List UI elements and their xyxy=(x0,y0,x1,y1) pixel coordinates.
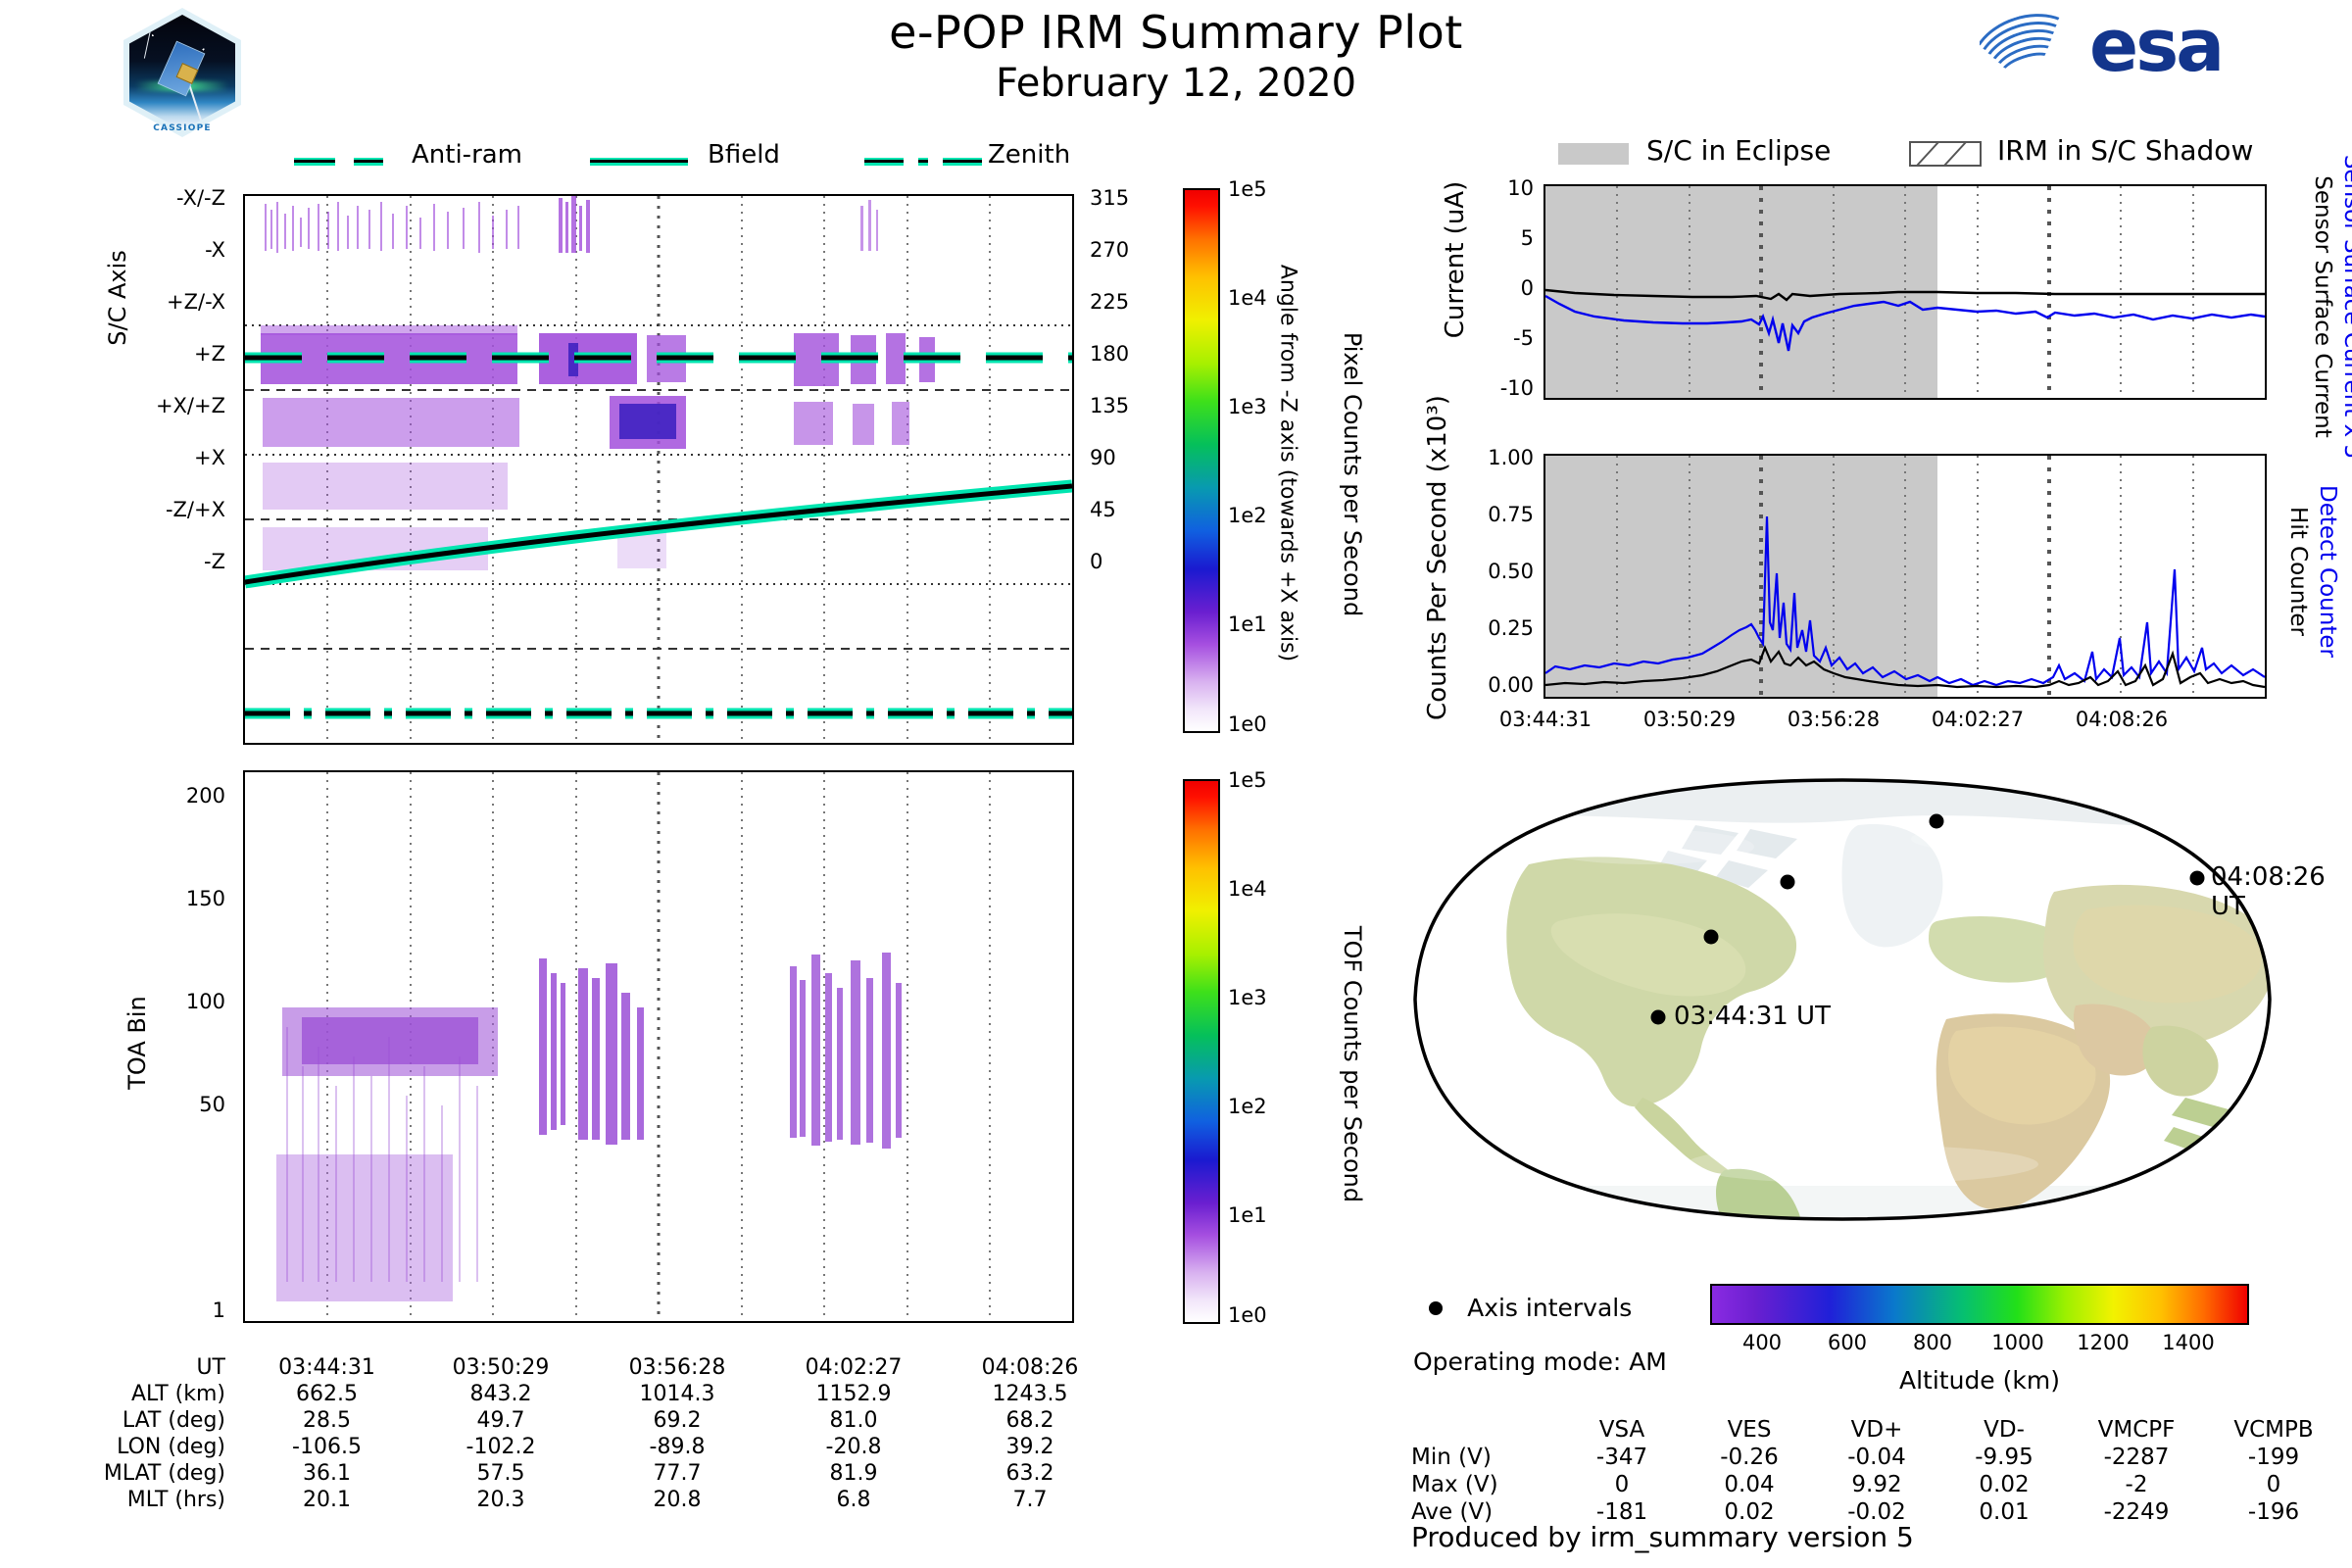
cbar-tick: 1e0 xyxy=(1228,1303,1267,1327)
ytick-right: 270 xyxy=(1090,238,1129,262)
altitude-colorbar-label: Altitude (km) xyxy=(1710,1366,2249,1395)
col-header: VD- xyxy=(1940,1416,2068,1444)
cbar-tick: 1e4 xyxy=(1228,286,1267,310)
cbar-tick: 600 xyxy=(1808,1331,1886,1354)
operating-mode: Operating mode: AM xyxy=(1413,1347,1667,1376)
col-header: VSA xyxy=(1558,1416,1686,1444)
cbar-tick: 1e0 xyxy=(1228,712,1267,736)
table-row: MLAT (deg) 36.1 57.5 77.7 81.9 63.2 xyxy=(59,1460,1118,1487)
ytick: 10 xyxy=(1507,176,1534,200)
ytick-right: 225 xyxy=(1090,290,1129,314)
pixel-counts-colorbar-label: Pixel Counts per Second xyxy=(1339,278,1366,670)
ytick-right: 135 xyxy=(1090,394,1129,417)
cell: -0.26 xyxy=(1686,1444,1813,1471)
cell: 57.5 xyxy=(413,1460,589,1487)
cell: 1014.3 xyxy=(589,1381,765,1407)
ytick: -Z xyxy=(204,550,225,573)
cell: 0.04 xyxy=(1686,1471,1813,1498)
cell: -196 xyxy=(2205,1498,2342,1526)
ytick: +X xyxy=(194,446,225,469)
ytick: 100 xyxy=(186,990,225,1013)
badge-caption: CASSIOPE xyxy=(123,123,241,133)
cell: 04:08:26 xyxy=(942,1354,1118,1381)
row-label: Min (V) xyxy=(1411,1444,1558,1471)
legend-swatch-eclipse xyxy=(1558,143,1629,165)
page-title: e-POP IRM Summary Plot xyxy=(686,6,1666,59)
cbar-tick: 1e2 xyxy=(1228,504,1267,527)
ytick-right: 315 xyxy=(1090,186,1129,210)
cell: 0.01 xyxy=(1940,1498,2068,1526)
cell: -2287 xyxy=(2068,1444,2205,1471)
time-tick: 03:56:28 xyxy=(1755,708,1912,731)
cell: 0 xyxy=(1558,1471,1686,1498)
cell: -20.8 xyxy=(765,1434,942,1460)
cell: 1243.5 xyxy=(942,1381,1118,1407)
cell: -199 xyxy=(2205,1444,2342,1471)
ytick: 1.00 xyxy=(1488,446,1534,469)
ytick: -5 xyxy=(1513,326,1534,350)
ytick-right: 180 xyxy=(1090,342,1129,366)
cell: -347 xyxy=(1558,1444,1686,1471)
legend-label-eclipse: S/C in Eclipse xyxy=(1646,134,1831,167)
sc-axis-spectrogram xyxy=(245,196,1072,743)
cell: 6.8 xyxy=(765,1487,942,1513)
ytick-right: 90 xyxy=(1090,446,1116,469)
tof-counts-colorbar-label: TOF Counts per Second xyxy=(1339,868,1366,1260)
cell: 36.1 xyxy=(241,1460,413,1487)
col-header: VD+ xyxy=(1813,1416,1940,1444)
cell: 81.9 xyxy=(765,1460,942,1487)
map-marker-legend: Axis intervals xyxy=(1423,1294,1632,1322)
cell: 39.2 xyxy=(942,1434,1118,1460)
table-row: LON (deg) -106.5 -102.2 -89.8 -20.8 39.2 xyxy=(59,1434,1118,1460)
ytick: -10 xyxy=(1500,376,1534,400)
time-tick: 03:44:31 xyxy=(1467,708,1624,731)
cbar-tick: 1000 xyxy=(1979,1331,2057,1354)
cell: 9.92 xyxy=(1813,1471,1940,1498)
counts-ylabel: Counts Per Second (x10³) xyxy=(1424,426,1453,720)
sc-axis-ylabel: S/C Axis xyxy=(104,200,131,396)
row-label: MLAT (deg) xyxy=(59,1460,241,1487)
tof-counts-colorbar xyxy=(1183,779,1220,1324)
cell: -2249 xyxy=(2068,1498,2205,1526)
cbar-tick: 1200 xyxy=(2064,1331,2142,1354)
cbar-tick: 800 xyxy=(1893,1331,1972,1354)
legend-label-zenith: Zenith xyxy=(988,140,1070,170)
orbit-marker xyxy=(1781,875,1795,890)
row-label: LON (deg) xyxy=(59,1434,241,1460)
ytick: -X/-Z xyxy=(176,186,225,210)
orbit-marker xyxy=(1651,1010,1666,1025)
ytick: 0.00 xyxy=(1488,673,1534,697)
cell: 81.0 xyxy=(765,1407,942,1434)
ytick: 0.25 xyxy=(1488,616,1534,640)
cell: 0.02 xyxy=(1940,1471,2068,1498)
cbar-tick: 1e1 xyxy=(1228,1203,1267,1227)
cbar-tick: 1e3 xyxy=(1228,986,1267,1009)
cell: 68.2 xyxy=(942,1407,1118,1434)
cell: 03:44:31 xyxy=(241,1354,413,1381)
cell: -2 xyxy=(2068,1471,2205,1498)
ytick: -Z/+X xyxy=(166,498,225,521)
current-plot xyxy=(1543,184,2267,400)
ytick: 0 xyxy=(1521,276,1534,300)
legend-label-shadow: IRM in S/C Shadow xyxy=(1997,134,2253,167)
axis-interval-dot-icon xyxy=(1423,1296,1448,1321)
legend-swatch-bfield xyxy=(590,151,688,170)
table-row: Min (V) -347 -0.26 -0.04 -9.95 -2287 -19… xyxy=(1411,1444,2342,1471)
cell: 662.5 xyxy=(241,1381,413,1407)
cell: 843.2 xyxy=(413,1381,589,1407)
row-label: Max (V) xyxy=(1411,1471,1558,1498)
cell: 20.8 xyxy=(589,1487,765,1513)
map-start-label: 03:44:31 UT xyxy=(1674,1002,1831,1031)
cell: 28.5 xyxy=(241,1407,413,1434)
cell: -9.95 xyxy=(1940,1444,2068,1471)
orbit-marker xyxy=(2190,871,2205,886)
ytick: 200 xyxy=(186,784,225,808)
table-row: MLT (hrs) 20.1 20.3 20.8 6.8 7.7 xyxy=(59,1487,1118,1513)
table-row: ALT (km) 662.5 843.2 1014.3 1152.9 1243.… xyxy=(59,1381,1118,1407)
col-header: VCMPB xyxy=(2205,1416,2342,1444)
counts-right-label-blue: Detect Counter xyxy=(2315,424,2340,718)
legend-label-bfield: Bfield xyxy=(708,140,780,170)
row-label: LAT (deg) xyxy=(59,1407,241,1434)
esa-wordmark: esa xyxy=(2089,4,2222,88)
table-row: LAT (deg) 28.5 49.7 69.2 81.0 68.2 xyxy=(59,1407,1118,1434)
ytick: +Z xyxy=(194,342,225,366)
cell: -106.5 xyxy=(241,1434,413,1460)
counts-series xyxy=(1545,456,2265,697)
footer-produced-by: Produced by irm_summary version 5 xyxy=(1411,1521,1914,1553)
table-header-row: VSA VES VD+ VD- VMCPF VCMPB xyxy=(1411,1416,2342,1444)
ytick-right: 45 xyxy=(1090,498,1116,521)
cell: -89.8 xyxy=(589,1434,765,1460)
cell: -102.2 xyxy=(413,1434,589,1460)
cell: 04:02:27 xyxy=(765,1354,942,1381)
orbit-marker xyxy=(1704,930,1719,945)
time-tick: 04:08:26 xyxy=(2043,708,2200,731)
legend-swatch-anti-ram xyxy=(294,151,383,170)
ytick: -X xyxy=(205,238,225,262)
counts-plot xyxy=(1543,454,2267,699)
table-row: Max (V) 0 0.04 9.92 0.02 -2 0 xyxy=(1411,1471,2342,1498)
cell: 03:56:28 xyxy=(589,1354,765,1381)
row-label: MLT (hrs) xyxy=(59,1487,241,1513)
cell: 03:50:29 xyxy=(413,1354,589,1381)
sc-axis-plot xyxy=(243,194,1074,745)
cbar-tick: 1e1 xyxy=(1228,612,1267,636)
current-right-label-blue: Sensor Surface Current x 5 xyxy=(2339,101,2352,513)
orbit-map: 03:44:31 UT 04:08:26 UT xyxy=(1401,774,2283,1225)
toa-plot xyxy=(243,770,1074,1323)
cbar-tick: 1e2 xyxy=(1228,1095,1267,1118)
cbar-tick: 1e4 xyxy=(1228,877,1267,901)
ytick: 150 xyxy=(186,887,225,910)
cell: 20.3 xyxy=(413,1487,589,1513)
orbit-marker xyxy=(1930,814,1944,829)
cell: 0 xyxy=(2205,1471,2342,1498)
time-tick: 04:02:27 xyxy=(1899,708,2056,731)
ytick: 50 xyxy=(199,1093,225,1116)
ephemeris-table: UT 03:44:31 03:50:29 03:56:28 04:02:27 0… xyxy=(59,1354,1118,1513)
cell: -0.04 xyxy=(1813,1444,1940,1471)
cbar-tick: 1e5 xyxy=(1228,177,1267,201)
cell: 49.7 xyxy=(413,1407,589,1434)
time-tick: 03:50:29 xyxy=(1611,708,1768,731)
map-marker-legend-label: Axis intervals xyxy=(1467,1294,1632,1322)
page-subtitle: February 12, 2020 xyxy=(686,61,1666,106)
legend-swatch-zenith xyxy=(864,151,982,170)
current-series xyxy=(1545,186,2265,398)
ytick: +Z/-X xyxy=(167,290,225,314)
altitude-colorbar xyxy=(1710,1284,2249,1325)
counts-right-label-black: Hit Counter xyxy=(2285,424,2311,718)
cell: 1152.9 xyxy=(765,1381,942,1407)
cell: 63.2 xyxy=(942,1460,1118,1487)
ytick: 0.50 xyxy=(1488,560,1534,583)
sc-axis-right-label: Angle from -Z axis (towards +X axis) xyxy=(1276,219,1300,709)
cell: 20.1 xyxy=(241,1487,413,1513)
legend-label-anti-ram: Anti-ram xyxy=(412,140,522,170)
cell: 69.2 xyxy=(589,1407,765,1434)
ytick: 1 xyxy=(213,1298,225,1322)
col-header: VES xyxy=(1686,1416,1813,1444)
current-ylabel: Current (uA) xyxy=(1441,142,1470,377)
map-background xyxy=(1401,774,2283,1225)
ytick: 0.75 xyxy=(1488,503,1534,526)
col-header: VMCPF xyxy=(2068,1416,2205,1444)
ytick-right: 0 xyxy=(1090,550,1102,573)
left-legend: Anti-ram Bfield Zenith xyxy=(294,143,1039,172)
voltage-table: VSA VES VD+ VD- VMCPF VCMPB Min (V) -347… xyxy=(1411,1416,2342,1526)
cassiope-badge: CASSIOPE xyxy=(123,8,241,137)
ytick: +X/+Z xyxy=(156,394,225,417)
row-label: ALT (km) xyxy=(59,1381,241,1407)
esa-logo: esa xyxy=(1980,8,2323,98)
cbar-tick: 1e3 xyxy=(1228,395,1267,418)
cell: 7.7 xyxy=(942,1487,1118,1513)
ytick: 5 xyxy=(1521,226,1534,250)
pixel-counts-colorbar xyxy=(1183,188,1220,733)
table-row: UT 03:44:31 03:50:29 03:56:28 04:02:27 0… xyxy=(59,1354,1118,1381)
esa-globe-icon xyxy=(1980,14,2082,92)
toa-ylabel: TOA Bin xyxy=(123,945,151,1141)
cell: 77.7 xyxy=(589,1460,765,1487)
row-label: UT xyxy=(59,1354,241,1381)
legend-swatch-shadow xyxy=(1909,141,1982,167)
map-end-label: 04:08:26 UT xyxy=(2211,862,2326,921)
cbar-tick: 1e5 xyxy=(1228,768,1267,792)
cbar-tick: 1400 xyxy=(2149,1331,2228,1354)
right-legend: S/C in Eclipse IRM in S/C Shadow xyxy=(1558,137,2323,172)
cbar-tick: 400 xyxy=(1723,1331,1801,1354)
toa-spectrogram xyxy=(245,772,1072,1321)
